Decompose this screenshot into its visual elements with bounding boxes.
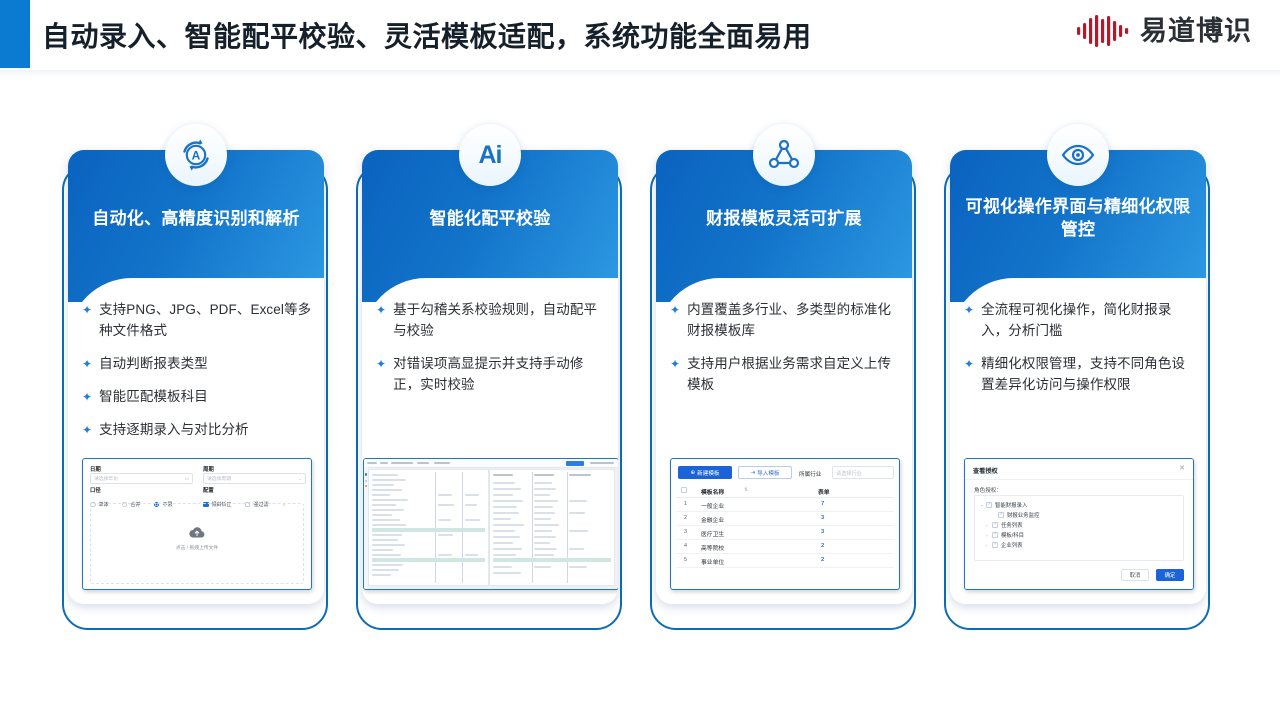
- card-body: ✦ 内置覆盖多行业、多类型的标准化财报模板库 ✦ 支持用户根据业务需求自定义上传…: [656, 278, 912, 604]
- brand-name: 易道博识: [1140, 18, 1252, 45]
- bullet-list: ✦ 基于勾稽关系校验规则，自动配平与校验 ✦ 对错误项高显提示并支持手动修正，实…: [376, 300, 606, 408]
- bullet-list: ✦ 支持PNG、JPG、PDF、Excel等多种文件格式 ✦ 自动判断报表类型 …: [82, 300, 312, 453]
- date-input[interactable]: 请选择年份 ▭: [90, 473, 193, 484]
- role-auth-label: 角色授权：: [974, 486, 1002, 494]
- table-header-row: 模板名称 ⇅ 表单: [676, 484, 894, 498]
- tree-node[interactable]: 财报业务监控: [992, 511, 1039, 519]
- card-surface: 财报模板灵活可扩展 ✦ 内置覆盖多行业、多类型的标准化财报模板库 ✦ 支持用户根…: [656, 150, 912, 604]
- bullet-diamond-icon: ✦: [376, 300, 386, 320]
- industry-filter-select[interactable]: 请选择行业: [832, 466, 894, 479]
- tree-checkbox[interactable]: [986, 502, 992, 508]
- feature-card-2[interactable]: Ai 智能化配平校验 ✦ 基于勾稽关系校验规则，自动配平与校验 ✦ 对错误项高显…: [356, 150, 624, 728]
- calendar-icon: ▭: [185, 476, 189, 482]
- dialog-title: 查看授权: [973, 466, 998, 475]
- row-template-name: 一般企业: [701, 501, 724, 510]
- spreadsheet-screenshot[interactable]: [363, 458, 618, 590]
- tree-node-label: 财报业务监控: [1007, 511, 1039, 519]
- period-select[interactable]: 请选择周期 ⌄: [203, 473, 306, 484]
- list-item: ✦ 内置覆盖多行业、多类型的标准化财报模板库: [670, 300, 900, 342]
- ai-text-icon: Ai: [459, 124, 521, 186]
- card-title: 可视化操作界面与精细化权限管控: [964, 196, 1192, 242]
- row-index: 4: [684, 543, 687, 549]
- card-surface: 可视化操作界面与精细化权限管控 ✦ 全流程可视化操作，简化财报录入，分析门槛 ✦…: [950, 150, 1206, 604]
- bullet-list: ✦ 全流程可视化操作，简化财报录入，分析门槛 ✦ 精细化权限管理，支持不同角色设…: [964, 300, 1194, 408]
- industry-filter-placeholder: 请选择行业: [836, 470, 862, 477]
- template-table-screenshot[interactable]: ⊕ 新建模板 ⇥ 导入模板 所属行业 请选择行业: [670, 458, 900, 590]
- bullet-diamond-icon: ✦: [670, 300, 680, 320]
- tree-node-label: 任务列表: [1001, 521, 1023, 529]
- header-divider: [0, 70, 1280, 78]
- chevron-down-icon: ⌄: [298, 476, 302, 482]
- bullet-text: 对错误项高显提示并支持手动修正，实时校验: [393, 354, 606, 396]
- row-index: 5: [684, 557, 687, 563]
- card-body: ✦ 支持PNG、JPG、PDF、Excel等多种文件格式 ✦ 自动判断报表类型 …: [68, 278, 324, 604]
- bullet-text: 支持逐期录入与对比分析: [99, 420, 249, 441]
- tree-node-label: 模板/科目: [1001, 531, 1024, 539]
- period-placeholder: 请选择周期: [207, 475, 231, 482]
- list-item: ✦ 自动判断报表类型: [82, 354, 312, 375]
- tree-node[interactable]: › 任务列表: [986, 521, 1023, 529]
- table-row[interactable]: 4 高等院校 2: [676, 539, 894, 554]
- row-form-count[interactable]: 2: [821, 543, 824, 549]
- spreadsheet-canvas: [364, 459, 618, 589]
- column-header-forms: 表单: [818, 487, 830, 496]
- list-item: ✦ 基于勾稽关系校验规则，自动配平与校验: [376, 300, 606, 342]
- tree-node-label: 智能财报录入: [995, 501, 1027, 509]
- card-title: 自动化、高精度识别和解析: [82, 208, 310, 231]
- config-label: 配置: [203, 486, 214, 494]
- feature-card-1[interactable]: A 自动化、高精度识别和解析 ✦ 支持PNG、JPG、PDF、Excel等多种文…: [62, 150, 330, 728]
- close-icon[interactable]: ✕: [1179, 465, 1185, 472]
- row-template-name: 金融企业: [701, 515, 724, 524]
- tree-checkbox[interactable]: [992, 532, 998, 538]
- auto-refresh-a-icon: A: [165, 124, 227, 186]
- row-form-count[interactable]: 2: [821, 557, 824, 563]
- tree-checkbox[interactable]: [998, 512, 1004, 518]
- ai-label: Ai: [479, 143, 502, 168]
- bullet-text: 自动判断报表类型: [99, 354, 208, 375]
- card-title: 智能化配平校验: [376, 208, 604, 231]
- bullet-text: 支持PNG、JPG、PDF、Excel等多种文件格式: [99, 300, 312, 342]
- tree-node-label: 企业列表: [1001, 541, 1023, 549]
- list-item: ✦ 支持逐期录入与对比分析: [82, 420, 312, 441]
- dropzone-text: 点击 / 拖拽上传文件: [91, 544, 303, 551]
- tree-checkbox[interactable]: [992, 522, 998, 528]
- row-index: 3: [684, 529, 687, 535]
- table-row[interactable]: 2 金融企业 3: [676, 511, 894, 526]
- card-title: 财报模板灵活可扩展: [670, 208, 898, 231]
- table-row[interactable]: 1 一般企业 7: [676, 497, 894, 512]
- bullet-diamond-icon: ✦: [376, 354, 386, 374]
- cloud-upload-icon: [91, 526, 303, 544]
- table-row[interactable]: 5 事业单位 2: [676, 553, 894, 568]
- row-index: 1: [684, 501, 687, 507]
- bullet-diamond-icon: ✦: [82, 300, 92, 320]
- feature-card-3[interactable]: 财报模板灵活可扩展 ✦ 内置覆盖多行业、多类型的标准化财报模板库 ✦ 支持用户根…: [650, 150, 918, 728]
- row-index: 2: [684, 515, 687, 521]
- bullet-diamond-icon: ✦: [964, 300, 974, 320]
- tree-node[interactable]: › 模板/科目: [986, 531, 1024, 539]
- header-accent-bar: [0, 0, 30, 68]
- row-template-name: 高等院校: [701, 543, 724, 552]
- new-template-button[interactable]: ⊕ 新建模板: [678, 466, 732, 479]
- list-item: ✦ 支持用户根据业务需求自定义上传模板: [670, 354, 900, 396]
- list-item: ✦ 全流程可视化操作，简化财报录入，分析门槛: [964, 300, 1194, 342]
- card-surface: 自动化、高精度识别和解析 ✦ 支持PNG、JPG、PDF、Excel等多种文件格…: [68, 150, 324, 604]
- tree-checkbox[interactable]: [992, 542, 998, 548]
- cancel-button[interactable]: 取消: [1121, 569, 1149, 581]
- tree-node[interactable]: ⌄ 智能财报录入: [980, 501, 1027, 509]
- bullet-text: 全流程可视化操作，简化财报录入，分析门槛: [981, 300, 1194, 342]
- plus-circle-icon: ⊕: [690, 470, 695, 476]
- feature-card-4[interactable]: 可视化操作界面与精细化权限管控 ✦ 全流程可视化操作，简化财报录入，分析门槛 ✦…: [944, 150, 1212, 728]
- card-body: ✦ 基于勾稽关系校验规则，自动配平与校验 ✦ 对错误项高显提示并支持手动修正，实…: [362, 278, 618, 604]
- list-item: ✦ 精细化权限管理，支持不同角色设置差异化访问与操作权限: [964, 354, 1194, 396]
- eye-icon: [1047, 124, 1109, 186]
- document-preview-pane[interactable]: [368, 469, 489, 586]
- permission-dialog-screenshot[interactable]: 查看授权 ✕ 角色授权： ⌄ 智能财报录入: [964, 458, 1194, 590]
- dialog-divider: [965, 479, 1193, 480]
- select-all-checkbox[interactable]: [681, 487, 687, 493]
- confirm-button[interactable]: 确定: [1156, 569, 1184, 581]
- bullet-diamond-icon: ✦: [964, 354, 974, 374]
- list-item: ✦ 智能匹配模板科目: [82, 387, 312, 408]
- field-label-date: 日期: [90, 465, 101, 473]
- import-template-label: 导入模板: [757, 469, 779, 477]
- list-item: ✦ 支持PNG、JPG、PDF、Excel等多种文件格式: [82, 300, 312, 342]
- bullet-diamond-icon: ✦: [82, 420, 92, 440]
- new-template-label: 新建模板: [697, 469, 719, 477]
- share-nodes-icon: [753, 124, 815, 186]
- tree-node[interactable]: › 企业列表: [986, 541, 1023, 549]
- bullet-text: 内置覆盖多行业、多类型的标准化财报模板库: [687, 300, 900, 342]
- brand-logo: 易道博识: [1076, 14, 1252, 48]
- svg-text:A: A: [192, 149, 201, 163]
- row-form-count[interactable]: 3: [821, 529, 824, 535]
- row-template-name: 事业单位: [701, 557, 724, 566]
- bullet-text: 基于勾稽关系校验规则，自动配平与校验: [393, 300, 606, 342]
- bullet-diamond-icon: ✦: [82, 354, 92, 374]
- app-toolbar: [364, 459, 618, 468]
- slide-page: 自动录入、智能配平校验、灵活模板适配，系统功能全面易用 易道博识: [0, 0, 1280, 720]
- industry-filter-label: 所属行业: [799, 470, 821, 478]
- brand-wave-icon: [1076, 14, 1130, 48]
- bullet-text: 精细化权限管理，支持不同角色设置差异化访问与操作权限: [981, 354, 1194, 396]
- extracted-table-pane[interactable]: [489, 469, 615, 586]
- sort-icon[interactable]: ⇅: [744, 487, 748, 493]
- bullet-diamond-icon: ✦: [82, 387, 92, 407]
- card-body: ✦ 全流程可视化操作，简化财报录入，分析门槛 ✦ 精细化权限管理，支持不同角色设…: [950, 278, 1206, 604]
- upload-form-screenshot[interactable]: 日期 请选择年份 ▭ 周期 请选择周期 ⌄ 口径 单体: [82, 458, 312, 590]
- bullet-diamond-icon: ✦: [670, 354, 680, 374]
- file-dropzone[interactable]: 点击 / 拖拽上传文件: [90, 503, 304, 584]
- bullet-text: 智能匹配模板科目: [99, 387, 208, 408]
- row-form-count[interactable]: 3: [821, 515, 824, 521]
- bullet-text: 支持用户根据业务需求自定义上传模板: [687, 354, 900, 396]
- field-label-period: 周期: [203, 465, 214, 473]
- import-icon: ⇥: [750, 470, 755, 476]
- page-header: 自动录入、智能配平校验、灵活模板适配，系统功能全面易用 易道博识: [0, 0, 1280, 70]
- import-template-button[interactable]: ⇥ 导入模板: [738, 466, 792, 479]
- card-surface: 智能化配平校验 ✦ 基于勾稽关系校验规则，自动配平与校验 ✦ 对错误项高显提示并…: [362, 150, 618, 604]
- list-item: ✦ 对错误项高显提示并支持手动修正，实时校验: [376, 354, 606, 396]
- row-form-count[interactable]: 7: [821, 501, 824, 507]
- feature-cards: A 自动化、高精度识别和解析 ✦ 支持PNG、JPG、PDF、Excel等多种文…: [0, 128, 1280, 618]
- bullet-list: ✦ 内置覆盖多行业、多类型的标准化财报模板库 ✦ 支持用户根据业务需求自定义上传…: [670, 300, 900, 408]
- permission-tree[interactable]: ⌄ 智能财报录入 财报业务监控 ›: [974, 495, 1184, 561]
- caliber-label: 口径: [90, 486, 101, 494]
- table-row[interactable]: 3 医疗卫生 3: [676, 525, 894, 540]
- row-template-name: 医疗卫生: [701, 529, 724, 538]
- page-title: 自动录入、智能配平校验、灵活模板适配，系统功能全面易用: [42, 15, 812, 55]
- column-header-name[interactable]: 模板名称: [701, 487, 724, 496]
- date-placeholder: 请选择年份: [94, 475, 118, 482]
